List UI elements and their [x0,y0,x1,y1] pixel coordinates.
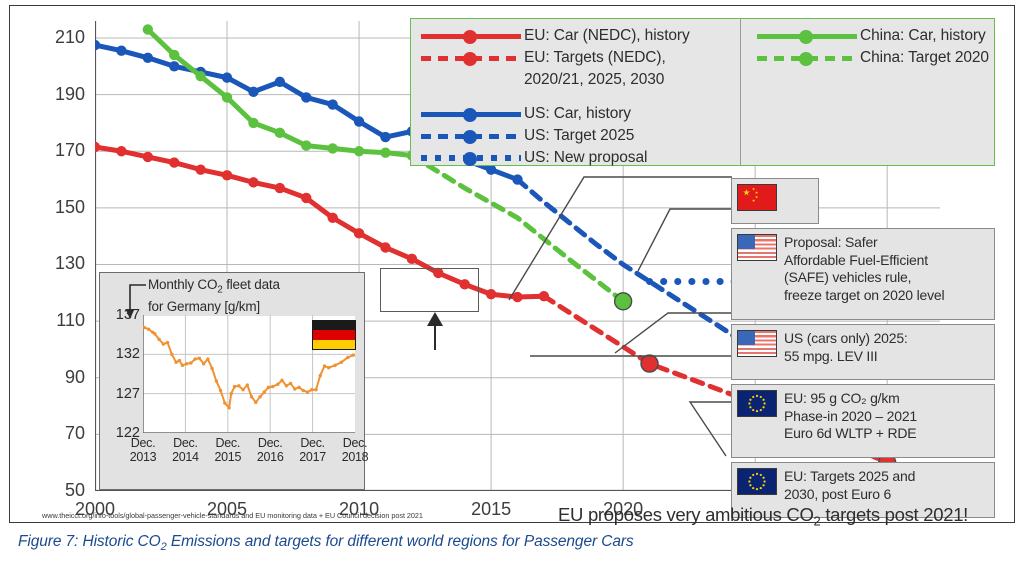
inset-x-tick-line: 2016 [257,450,284,464]
legend-marker-icon [799,30,813,44]
annotation-box [731,178,819,224]
annotation-text: EU: Targets 2025 and2030, post Euro 6 [784,468,915,503]
inset-x-tick-label: Dec.2013 [121,436,165,464]
eu-flag-icon [737,390,777,417]
legend-item[interactable]: China: Car, history [755,25,994,47]
inset-x-tick-label: Dec.2016 [248,436,292,464]
legend-marker-icon [463,130,477,144]
legend-line-symbol-icon [419,125,524,147]
inset-y-tick-label: 127 [116,387,140,402]
inset-x-tick-line: 2015 [214,450,241,464]
figure-root: CO2 emissions normalized to NEDC [g/km] … [0,0,1024,561]
annotation-text-line: Phase-in 2020 – 2021 [784,408,917,424]
legend-item[interactable]: China: Target 2020 [755,47,994,69]
y-tick-label: 110 [43,310,85,331]
us-flag-icon [737,234,777,261]
annotation-text-line: Euro 6d WLTP + RDE [784,425,916,441]
legend-item-label: US: Car, history [524,103,631,125]
y-tick-label: 210 [43,27,85,48]
annotation-text-line: Affordable Fuel-Efficient [784,252,928,268]
x-tick-label: 2015 [461,499,521,520]
legend-line-symbol-icon [419,103,524,125]
china-flag-icon [737,184,777,211]
annotation-box: US (cars only) 2025:55 mpg. LEV III [731,324,995,380]
star-icon [752,199,755,202]
legend-item-label-line2: 2020/21, 2025, 2030 [524,69,664,91]
legend-item[interactable]: EU: Car (NEDC), history [419,25,740,47]
legend-item-label: US: New proposal [524,147,647,169]
star-icon [743,189,750,196]
us-flag-icon [737,330,777,357]
germany-flag [312,320,356,350]
annotation-box: EU: 95 g CO₂ g/kmPhase-in 2020 – 2021Eur… [731,384,995,458]
annotation-text-line: 55 mpg. LEV III [784,348,878,364]
y-tick-label: 130 [43,253,85,274]
annotation-text-line: EU: 95 g CO₂ g/km [784,390,900,406]
inset-x-tick-line: Dec. [343,436,368,450]
legend-line-symbol-icon [419,25,524,47]
annotation-text-line: (SAFE) vehicles rule, [784,269,911,285]
annotation-box: Proposal: SaferAffordable Fuel-Efficient… [731,228,995,320]
legend-item[interactable]: EU: Targets (NEDC), [419,47,740,69]
eu-flag-icon [737,468,777,495]
y-tick-label: 50 [43,480,85,501]
inset-x-tick-label: Dec.2015 [206,436,250,464]
legend-line-symbol-icon [419,47,524,69]
inset-x-tick-line: 2017 [299,450,326,464]
inset-chart-germany: Monthly CO2 fleet data for Germany [g/km… [99,272,365,490]
legend-spacer [419,91,740,103]
star-icon [752,188,755,191]
annotation-text: EU: 95 g CO₂ g/kmPhase-in 2020 – 2021Eur… [784,390,917,443]
legend-marker-icon [463,152,477,166]
legend-marker-icon [463,30,477,44]
y-tick-label: 170 [43,140,85,161]
legend-line-symbol-icon [755,47,860,69]
annotation-text-line: US (cars only) 2025: [784,330,908,346]
figure-frame: CO2 emissions normalized to NEDC [g/km] … [9,5,1015,523]
inset-x-tick-label: Dec.2017 [291,436,335,464]
legend-item-label: EU: Targets (NEDC), [524,47,666,69]
inset-x-tick-line: Dec. [258,436,283,450]
annotation-text: US (cars only) 2025:55 mpg. LEV III [784,330,908,365]
legend-marker-icon [463,52,477,66]
annotation-text-line: Proposal: Safer [784,234,878,250]
inset-x-tick-line: Dec. [216,436,241,450]
flag-canton [738,235,755,249]
inset-x-tick-line: 2013 [130,450,157,464]
annotation-text-line: freeze target on 2020 level [784,287,944,303]
eu-stars-icon [738,469,776,494]
y-tick-label: 70 [43,423,85,444]
inset-x-tick-label: Dec.2018 [333,436,377,464]
star-icon [755,196,758,199]
chart-tagline: EU proposes very ambitious CO2 targets p… [558,504,968,529]
legend-column-right: China: Car, historyChina: Target 2020 [741,19,994,165]
y-tick-label: 190 [43,84,85,105]
legend-column-left: EU: Car (NEDC), historyEU: Targets (NEDC… [411,19,741,165]
highlight-arrow-icon [422,309,448,351]
legend-item-label: US: Target 2025 [524,125,634,147]
legend-item[interactable]: US: New proposal [419,147,740,169]
legend-line-symbol-icon [419,147,524,169]
figure-caption: Figure 7: Historic CO2 Emissions and tar… [18,533,634,553]
legend-item-label: EU: Car (NEDC), history [524,25,690,47]
annotation-text: Proposal: SaferAffordable Fuel-Efficient… [784,234,944,304]
inset-x-tick-line: Dec. [300,436,325,450]
legend-marker-icon [799,52,813,66]
legend-line-symbol-icon [755,25,860,47]
eu-stars-icon [738,391,776,416]
star-icon [755,191,758,194]
source-attribution: www.theicct.org/info-tools/global-passen… [42,511,423,520]
legend-item[interactable]: US: Target 2025 [419,125,740,147]
y-tick-label: 150 [43,197,85,218]
legend-item[interactable]: US: Car, history [419,103,740,125]
legend-marker-icon [463,108,477,122]
inset-x-tick-line: 2018 [342,450,369,464]
inset-x-tick-line: Dec. [131,436,156,450]
inset-y-tick-label: 132 [116,347,140,362]
legend-item-continuation: 2020/21, 2025, 2030 [419,69,740,91]
legend-item-label: China: Target 2020 [860,47,989,69]
flag-canton [738,331,755,345]
inset-x-tick-label: Dec.2014 [163,436,207,464]
inset-y-tick-label: 137 [116,308,140,323]
inset-x-tick-line: Dec. [173,436,198,450]
inset-x-tick-line: 2014 [172,450,199,464]
annotation-text-line: EU: Targets 2025 and [784,468,915,484]
annotation-text-line: 2030, post Euro 6 [784,486,891,502]
chart-legend: EU: Car (NEDC), historyEU: Targets (NEDC… [410,18,995,166]
legend-item-label: China: Car, history [860,25,986,47]
eu-history-highlight-box [380,268,479,312]
y-tick-label: 90 [43,367,85,388]
inset-title: Monthly CO2 fleet data for Germany [g/km… [148,277,280,316]
